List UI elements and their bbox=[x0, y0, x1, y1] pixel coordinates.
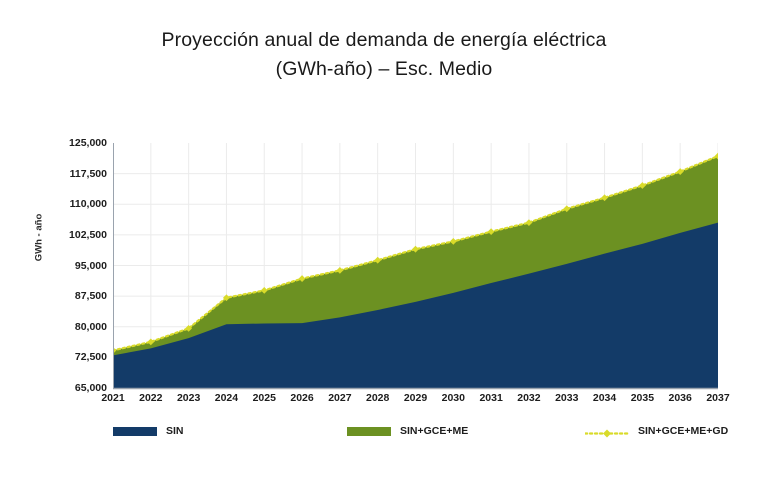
y-axis-tick-label: 95,000 bbox=[37, 260, 107, 272]
y-axis-tick-label: 117,500 bbox=[37, 168, 107, 180]
legend-label: SIN bbox=[166, 425, 184, 437]
x-axis-tick-labels: 2021202220232024202520262027202820292030… bbox=[113, 392, 718, 408]
x-axis-tick-label: 2034 bbox=[593, 392, 616, 404]
chart-title-line-2: (GWh-año) – Esc. Medio bbox=[0, 55, 768, 84]
x-axis-tick-label: 2028 bbox=[366, 392, 389, 404]
x-axis-tick-label: 2024 bbox=[215, 392, 238, 404]
chart-container: Proyección anual de demanda de energía e… bbox=[0, 0, 768, 483]
x-axis-tick-label: 2035 bbox=[631, 392, 654, 404]
x-axis-tick-label: 2036 bbox=[669, 392, 692, 404]
plot-area bbox=[113, 143, 718, 388]
chart-title: Proyección anual de demanda de energía e… bbox=[0, 26, 768, 85]
x-axis-tick-label: 2026 bbox=[290, 392, 313, 404]
y-axis-tick-label: 72,500 bbox=[37, 351, 107, 363]
legend-item[interactable]: SIN+GCE+ME+GD bbox=[585, 420, 728, 442]
legend-item[interactable]: SIN bbox=[113, 420, 184, 442]
legend-label: SIN+GCE+ME bbox=[400, 425, 468, 437]
y-axis-tick-label: 65,000 bbox=[37, 382, 107, 394]
y-axis-tick-labels: 125,000117,500110,000102,50095,00087,500… bbox=[33, 143, 107, 388]
x-axis-tick-label: 2021 bbox=[101, 392, 124, 404]
legend-label: SIN+GCE+ME+GD bbox=[638, 425, 728, 437]
legend-color-swatch bbox=[347, 427, 391, 436]
y-axis-tick-label: 87,500 bbox=[37, 290, 107, 302]
x-axis-tick-label: 2027 bbox=[328, 392, 351, 404]
y-axis-tick-label: 125,000 bbox=[37, 137, 107, 149]
x-axis-tick-label: 2023 bbox=[177, 392, 200, 404]
x-axis-tick-label: 2031 bbox=[479, 392, 502, 404]
chart-legend: SINSIN+GCE+MESIN+GCE+ME+GD bbox=[113, 420, 718, 442]
series-layer bbox=[113, 143, 718, 388]
x-axis-tick-label: 2032 bbox=[517, 392, 540, 404]
y-axis-tick-label: 80,000 bbox=[37, 321, 107, 333]
x-axis-tick-label: 2030 bbox=[442, 392, 465, 404]
chart-title-line-1: Proyección anual de demanda de energía e… bbox=[0, 26, 768, 55]
legend-dotted-line-icon bbox=[585, 426, 629, 437]
legend-item[interactable]: SIN+GCE+ME bbox=[347, 420, 468, 442]
y-axis-tick-label: 110,000 bbox=[37, 198, 107, 210]
x-axis-tick-label: 2037 bbox=[706, 392, 729, 404]
x-axis-tick-label: 2033 bbox=[555, 392, 578, 404]
x-axis-tick-label: 2025 bbox=[253, 392, 276, 404]
x-axis-tick-label: 2029 bbox=[404, 392, 427, 404]
x-axis-tick-label: 2022 bbox=[139, 392, 162, 404]
y-axis-tick-label: 102,500 bbox=[37, 229, 107, 241]
legend-color-swatch bbox=[113, 427, 157, 436]
plot-frame bbox=[113, 143, 718, 388]
